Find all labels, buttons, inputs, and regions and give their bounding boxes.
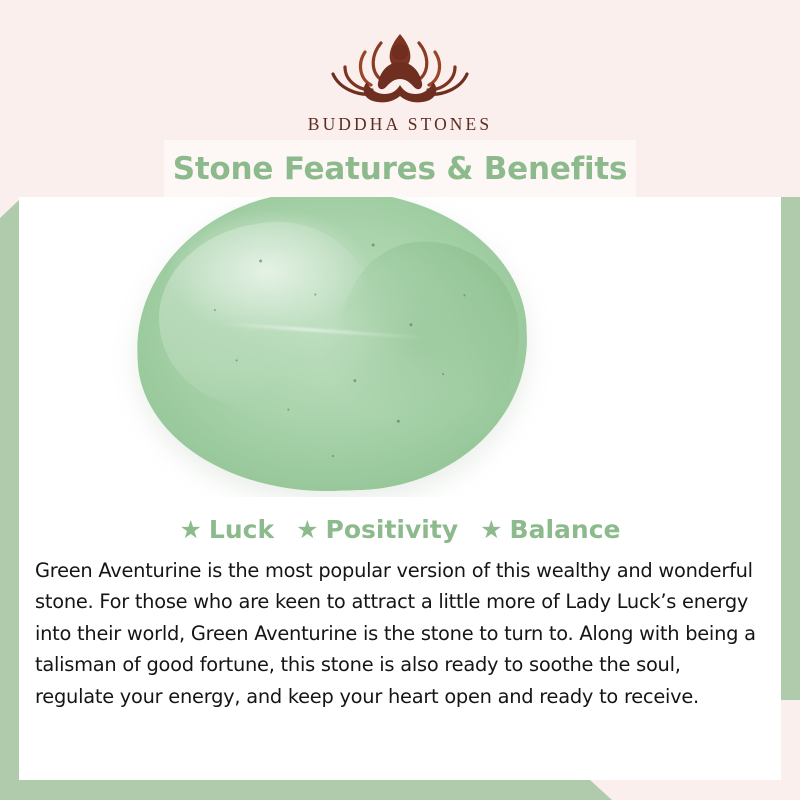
star-icon: ★ bbox=[296, 517, 318, 542]
benefit-item-luck: ★ Luck bbox=[180, 515, 275, 544]
benefit-label: Balance bbox=[510, 515, 621, 544]
frame-left-accent bbox=[0, 200, 19, 800]
stone-body bbox=[132, 197, 532, 498]
benefit-label: Luck bbox=[209, 515, 274, 544]
brand-logo: BUDDHA STONES bbox=[0, 22, 800, 135]
star-icon: ★ bbox=[180, 517, 202, 542]
header: BUDDHA STONES Stone Features & Benefits bbox=[0, 0, 800, 197]
green-aventurine-stone-image bbox=[137, 197, 527, 491]
brand-name: BUDDHA STONES bbox=[308, 114, 492, 135]
stone-shadow-facet bbox=[336, 239, 522, 443]
benefit-label: Positivity bbox=[326, 515, 459, 544]
description-paragraph: Green Aventurine is the most popular ver… bbox=[35, 555, 765, 712]
star-icon: ★ bbox=[480, 517, 502, 542]
page-title: Stone Features & Benefits bbox=[173, 151, 628, 187]
description-panel: ★ Luck ★ Positivity ★ Balance Green Aven… bbox=[19, 497, 781, 780]
lotus-meditating-figure-icon bbox=[315, 22, 485, 110]
poster: BUDDHA STONES Stone Features & Benefits bbox=[0, 0, 800, 800]
title-plate: Stone Features & Benefits bbox=[164, 140, 636, 197]
frame-bottom-left-accent bbox=[0, 780, 612, 800]
benefit-item-balance: ★ Balance bbox=[480, 515, 620, 544]
benefits-row: ★ Luck ★ Positivity ★ Balance bbox=[19, 497, 781, 544]
benefit-item-positivity: ★ Positivity bbox=[296, 515, 458, 544]
